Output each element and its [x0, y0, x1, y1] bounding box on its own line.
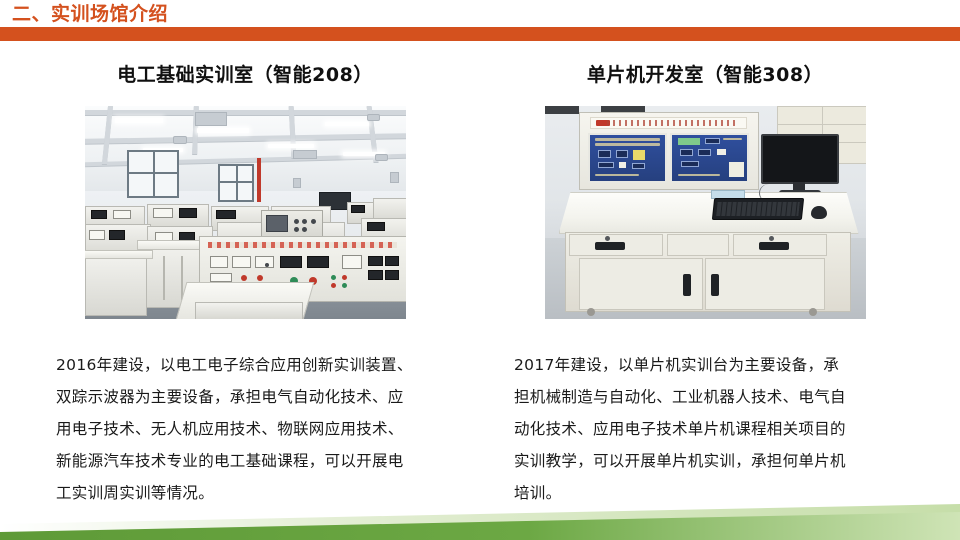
pcb-chip	[705, 138, 720, 144]
photo-electrical-lab	[85, 106, 406, 319]
instrument	[153, 208, 173, 218]
scope-knob	[294, 227, 299, 232]
panel-meter	[255, 256, 274, 268]
footer-decoration	[0, 482, 960, 540]
scope-knob	[294, 219, 299, 224]
pcb-header-row	[678, 174, 720, 177]
desc-line: 双踪示波器为主要设备，承担电气自动化技术、应	[56, 381, 434, 413]
pcb-header-row	[595, 143, 660, 146]
bench-surface	[85, 250, 153, 259]
console-label-strip	[208, 242, 398, 248]
slide-header: 二、实训场馆介绍	[0, 0, 960, 42]
ceiling-light	[268, 144, 314, 148]
pcb-chip	[698, 149, 711, 156]
pcb-chip	[598, 150, 611, 157]
panel-meter	[210, 273, 233, 282]
panel-display	[307, 256, 330, 269]
drawer-center	[667, 234, 729, 256]
background-panel	[545, 106, 579, 114]
wall-fixture	[390, 172, 399, 183]
caster-wheel	[809, 308, 817, 316]
cabinet-door-right	[705, 258, 825, 310]
pcb-chip	[680, 149, 693, 156]
nameplate-text	[607, 120, 737, 126]
monitor-screen	[761, 134, 839, 184]
panel-button-green	[342, 283, 347, 288]
wall-fixture	[293, 178, 301, 188]
cabinet-seam	[163, 256, 165, 300]
scope-knob	[311, 219, 316, 224]
oscilloscope-screen	[266, 215, 289, 232]
pcb-board-left	[588, 133, 666, 183]
window	[127, 150, 179, 198]
ceiling-beam	[85, 110, 406, 115]
pcb-chip	[616, 150, 628, 157]
panel-mcu-lab: 单片机开发室（智能308）	[490, 60, 920, 509]
pcb-component	[619, 162, 626, 168]
desc-line: 担机械制造与自动化、工业机器人技术、电气自	[514, 381, 896, 413]
photo-mcu-workstation	[545, 106, 866, 319]
desc-line: 用电子技术、无人机应用技术、物联网应用技术、	[56, 413, 434, 445]
pcb-chip	[598, 162, 614, 168]
panel-title-left: 电工基础实训室（智能208）	[30, 60, 460, 90]
pcb-component	[717, 149, 726, 155]
pcb-header-row	[595, 138, 660, 141]
instrument	[179, 208, 197, 218]
drawer-lock	[605, 236, 610, 241]
panel-button-red	[331, 283, 336, 288]
panel-display	[385, 256, 399, 266]
ceiling-light	[197, 128, 249, 133]
pcb-chip	[681, 161, 699, 167]
door-handle	[683, 274, 691, 296]
keyboard	[711, 198, 803, 220]
desc-line: 实训教学，可以开展单片机实训，承担何单片机	[514, 445, 896, 477]
instrument	[351, 205, 365, 213]
pcb-header-row	[595, 174, 640, 177]
panel-meter	[342, 255, 363, 269]
page-title: 二、实训场馆介绍	[12, 1, 168, 27]
drawer-handle	[759, 242, 789, 250]
panel-display	[385, 270, 399, 280]
fire-pipe	[257, 158, 261, 202]
trainer-nameplate	[590, 117, 747, 129]
ceiling-vent	[195, 112, 227, 126]
panel-knob	[241, 275, 247, 281]
footer-swoosh-svg	[0, 482, 960, 540]
desc-line: 动化技术、应用电子技术单片机课程相关项目的	[514, 413, 896, 445]
bench-cabinet	[85, 254, 147, 316]
ceiling-projector	[375, 154, 388, 161]
desc-line: 新能源汽车技术专业的电工基础课程，可以开展电	[56, 445, 434, 477]
pcb-component-yellow	[633, 150, 645, 159]
panel-display	[368, 256, 382, 266]
panel-meter	[232, 256, 251, 268]
instrument	[109, 230, 125, 240]
panel-title-right: 单片机开发室（智能308）	[490, 60, 920, 90]
scope-knob	[302, 219, 307, 224]
ceiling-projector	[173, 136, 187, 144]
drawer-handle	[595, 242, 625, 250]
mouse	[811, 206, 827, 219]
window	[218, 164, 254, 202]
instrument	[91, 210, 107, 219]
ceiling-vent	[293, 150, 317, 159]
front-desk-drawer	[195, 302, 303, 319]
panel-button-red	[342, 275, 347, 280]
lcd-module	[678, 138, 700, 145]
door-handle	[711, 274, 719, 296]
instrument	[113, 210, 131, 219]
ceiling-projector	[367, 114, 380, 121]
panel-knob	[257, 275, 263, 281]
pcb-board-right	[670, 133, 748, 183]
ceiling-light	[115, 118, 163, 123]
scope-knob	[302, 227, 307, 232]
header-accent-bar	[0, 27, 960, 41]
pcb-chip	[632, 163, 645, 169]
pcb-header-row	[723, 138, 742, 141]
panel-display	[368, 270, 382, 280]
instrument	[216, 210, 236, 219]
panel-meter	[210, 256, 229, 268]
instrument	[89, 230, 105, 240]
keypad-module	[729, 162, 744, 178]
panel-button-green	[331, 275, 336, 280]
panel-display	[280, 256, 303, 269]
keyboard-keys	[715, 202, 799, 216]
instrument	[367, 222, 385, 231]
drawer-lock	[769, 236, 774, 241]
desc-line: 2017年建设，以单片机实训台为主要设备，承	[514, 349, 896, 381]
panel-electrical-lab: 电工基础实训室（智能208）	[30, 60, 460, 509]
ceiling-light	[325, 122, 369, 126]
trainer-backboard	[579, 112, 759, 190]
caster-wheel	[587, 308, 595, 316]
desc-line: 2016年建设，以电工电子综合应用创新实训装置、	[56, 349, 434, 381]
